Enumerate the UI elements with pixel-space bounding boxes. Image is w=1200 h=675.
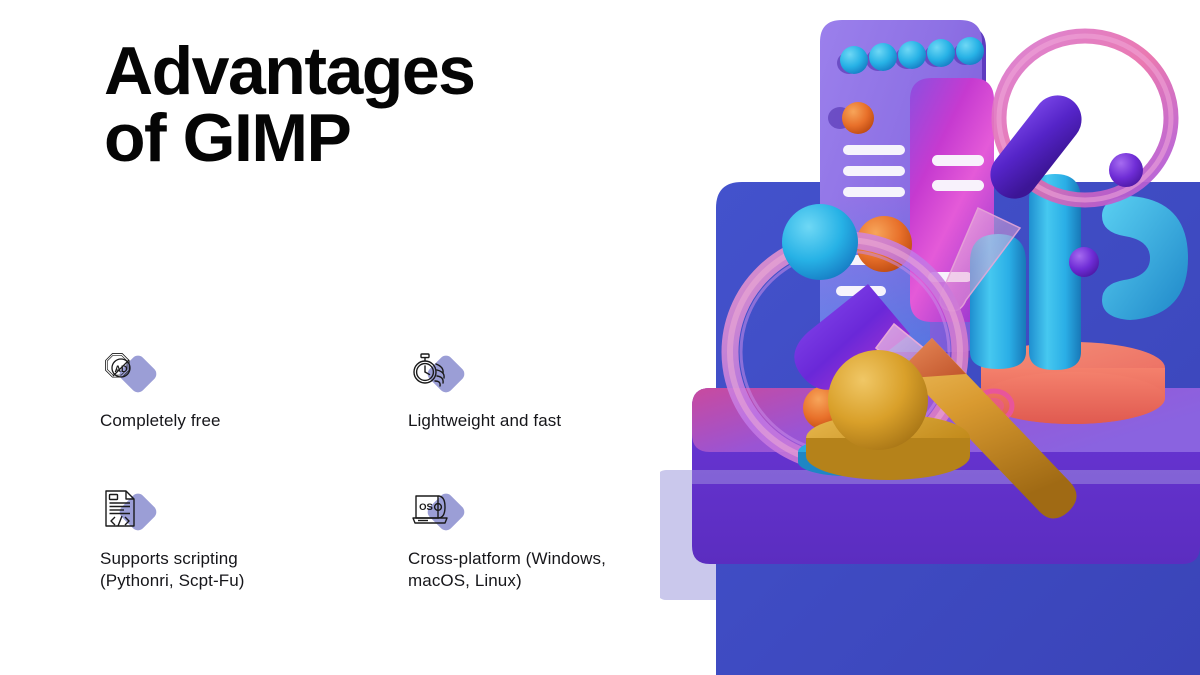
feature-icon-wrap: AD — [100, 348, 164, 396]
gold-sphere — [828, 350, 928, 450]
violet-sphere-ring — [1109, 153, 1143, 187]
no-ads-icon: AD — [100, 348, 144, 392]
orange-sphere-panel — [842, 102, 874, 134]
laptop-os-icon-label: OS — [419, 502, 433, 513]
no-ads-icon-label: AD — [115, 364, 128, 374]
cyan-sphere-left — [782, 204, 858, 280]
feature-label: Completely free — [100, 410, 400, 432]
stopwatch-speed-icon — [408, 348, 452, 392]
violet-sphere-accent — [1069, 247, 1099, 277]
laptop-os-icon: OS — [408, 486, 452, 530]
illustration-3d-design-tools — [660, 0, 1200, 675]
feature-label: Supports scripting (Pythonri, Scpt-Fu) — [100, 548, 400, 592]
feature-icon-wrap — [408, 348, 472, 396]
code-document-icon — [100, 486, 144, 530]
feature-item-supports-scripting: Supports scripting (Pythonri, Scpt-Fu) — [100, 486, 400, 592]
feature-icon-wrap — [100, 486, 164, 534]
feature-icon-wrap: OS — [408, 486, 472, 534]
feature-item-completely-free: AD Completely free — [100, 348, 400, 432]
page-title: Advantages of GIMP — [104, 38, 664, 171]
